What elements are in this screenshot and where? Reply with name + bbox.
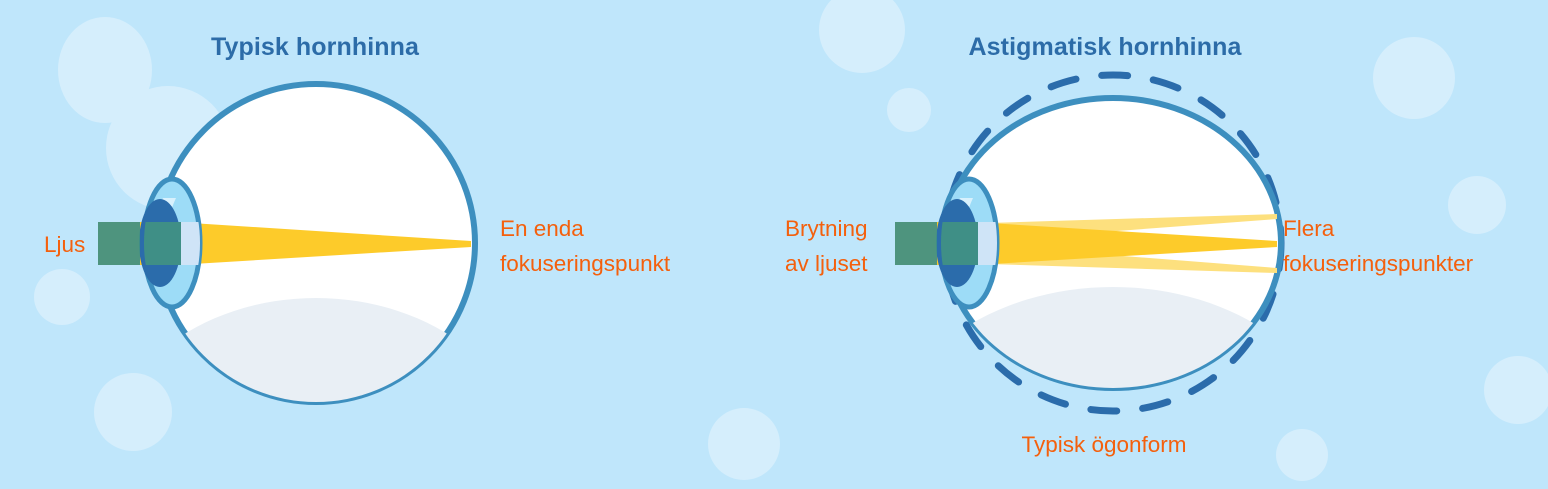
eye-comparison-diagram: Typisk hornhinna Ljus En enda fokusering… — [0, 0, 1548, 489]
light-label-typical: Ljus — [44, 232, 85, 257]
bubble — [1448, 176, 1506, 234]
bubble — [708, 408, 780, 480]
pupil-lit-band-right — [895, 222, 937, 265]
panel-title-typical: Typisk hornhinna — [211, 33, 420, 61]
typical-eye-shape-caption: Typisk ögonform — [1021, 432, 1186, 457]
bubble — [34, 269, 90, 325]
bubble — [94, 373, 172, 451]
illustration-root: Typisk hornhinna Ljus En enda fokusering… — [0, 0, 1548, 489]
bubble — [1276, 429, 1328, 481]
iris-lit-band-right — [936, 222, 978, 265]
panel-title-astigmatic: Astigmatisk hornhinna — [969, 33, 1243, 61]
focus-label-typical-line2: fokuseringspunkt — [500, 251, 671, 276]
refraction-label-line2: av ljuset — [785, 251, 868, 276]
focus-label-astigmatic-line1: Flera — [1283, 216, 1335, 241]
refraction-label-line1: Brytning — [785, 216, 868, 241]
bubble — [1373, 37, 1455, 119]
iris-lit-band-left — [139, 222, 181, 265]
bubble — [887, 88, 931, 132]
focus-label-astigmatic-line2: fokuseringspunkter — [1283, 251, 1474, 276]
pupil-lit-band-left — [98, 222, 140, 265]
focus-label-typical-line1: En enda — [500, 216, 584, 241]
